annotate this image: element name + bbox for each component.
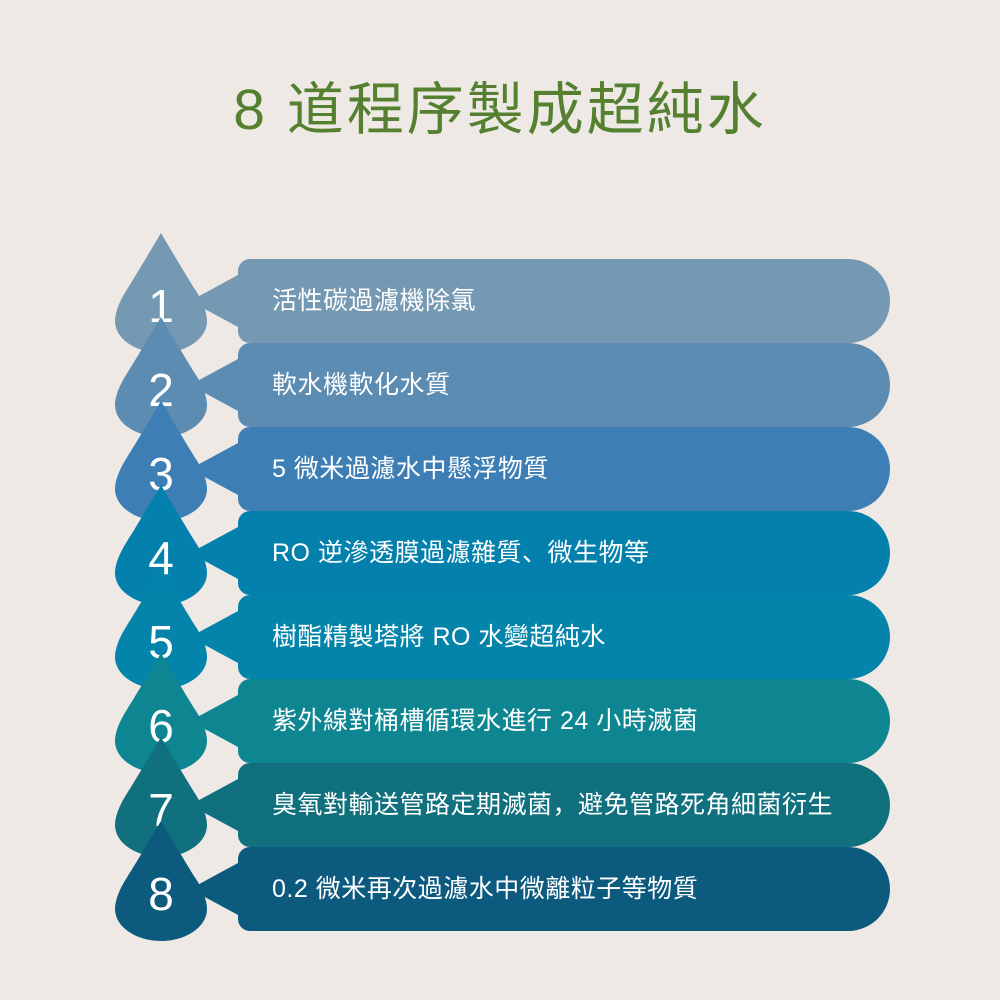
step-bar[interactable]: 紫外線對桶槽循環水進行 24 小時滅菌 [190, 679, 890, 763]
step-bar[interactable]: 活性碳過濾機除氯 [190, 259, 890, 343]
step-bar[interactable]: 0.2 微米再次過濾水中微離粒子等物質 [190, 847, 890, 931]
steps-list: 活性碳過濾機除氯1軟水機軟化水質25 微米過濾水中懸浮物質3RO 逆滲透膜過濾雜… [0, 0, 1000, 1000]
step-bar-shape [190, 343, 890, 427]
water-drop-icon [115, 821, 207, 941]
step-bar[interactable]: RO 逆滲透膜過濾雜質、微生物等 [190, 511, 890, 595]
step-bar-shape [190, 427, 890, 511]
step-bar[interactable]: 軟水機軟化水質 [190, 343, 890, 427]
step-bar-shape [190, 259, 890, 343]
step-row: 0.2 微米再次過濾水中微離粒子等物質8 [0, 847, 1000, 931]
step-droplet[interactable]: 8 [115, 821, 207, 941]
step-bar[interactable]: 臭氧對輸送管路定期滅菌，避免管路死角細菌衍生 [190, 763, 890, 847]
step-bar-shape [190, 595, 890, 679]
step-bar-shape [190, 511, 890, 595]
step-bar-shape [190, 847, 890, 931]
step-bar-shape [190, 679, 890, 763]
step-bar[interactable]: 5 微米過濾水中懸浮物質 [190, 427, 890, 511]
step-bar-shape [190, 763, 890, 847]
infographic-canvas: 8 道程序製成超純水 活性碳過濾機除氯1軟水機軟化水質25 微米過濾水中懸浮物質… [0, 0, 1000, 1000]
step-bar[interactable]: 樹酯精製塔將 RO 水變超純水 [190, 595, 890, 679]
